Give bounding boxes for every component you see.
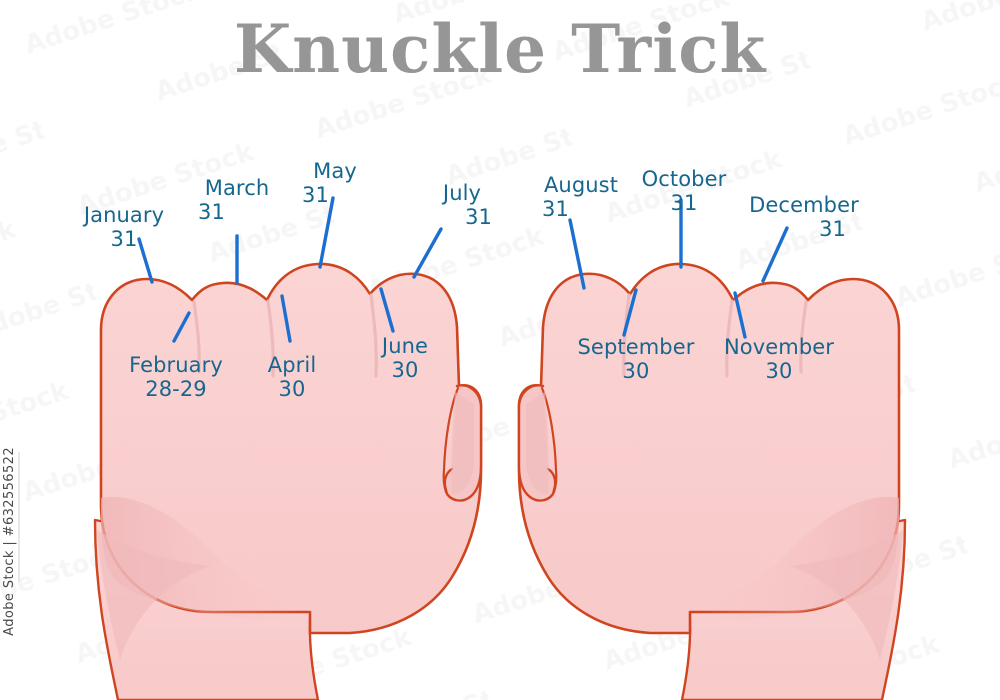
label-march: March 31	[192, 177, 282, 224]
two-fists-illustration	[0, 0, 1000, 700]
label-september-days: 30	[570, 360, 702, 384]
label-june-month: June	[374, 335, 436, 359]
label-september: September 30	[570, 336, 702, 383]
right-fist	[519, 264, 905, 700]
right-thumb-shade	[526, 392, 549, 494]
label-april: April 30	[258, 354, 326, 401]
label-june-days: 30	[374, 359, 436, 383]
illustration-canvas: Adobe Stock Adobe Stock Knuckle Trick	[0, 0, 1000, 700]
label-september-month: September	[570, 336, 702, 360]
label-february-days: 28-29	[120, 378, 232, 402]
label-july: July 31	[430, 182, 494, 229]
label-february: February 28-29	[120, 354, 232, 401]
label-december-days: 31	[748, 218, 860, 242]
label-june: June 30	[374, 335, 436, 382]
label-march-month: March	[192, 177, 282, 201]
label-may-days: 31	[300, 184, 370, 208]
label-august-month: August	[538, 174, 624, 198]
label-april-month: April	[258, 354, 326, 378]
label-february-month: February	[120, 354, 232, 378]
label-august-days: 31	[538, 198, 624, 222]
label-december: December 31	[748, 194, 860, 241]
label-november-days: 30	[718, 360, 840, 384]
label-october-days: 31	[638, 192, 730, 216]
label-may: May 31	[300, 160, 370, 207]
left-thumb-shade	[451, 392, 474, 494]
label-april-days: 30	[258, 378, 326, 402]
label-january-days: 31	[76, 228, 172, 252]
label-november: November 30	[718, 336, 840, 383]
watermark-credit: Adobe Stock | #632556522	[2, 447, 17, 636]
label-july-days: 31	[430, 206, 494, 230]
label-december-month: December	[748, 194, 860, 218]
label-october-month: October	[638, 168, 730, 192]
label-january-month: January	[76, 204, 172, 228]
leader-july	[414, 229, 441, 277]
leader-may	[320, 198, 333, 267]
label-january: January 31	[76, 204, 172, 251]
watermark-divider-bar	[18, 452, 20, 582]
label-july-month: July	[430, 182, 494, 206]
label-august: August 31	[538, 174, 624, 221]
label-october: October 31	[638, 168, 730, 215]
label-november-month: November	[718, 336, 840, 360]
label-march-days: 31	[192, 201, 282, 225]
label-may-month: May	[300, 160, 370, 184]
